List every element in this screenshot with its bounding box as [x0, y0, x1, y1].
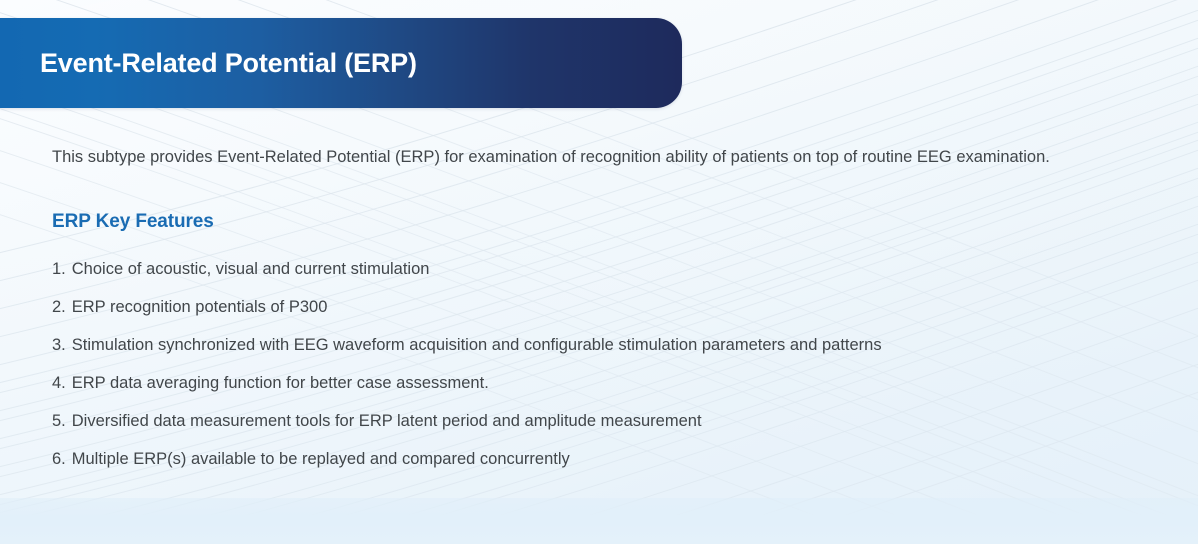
- feature-list: 1. Choice of acoustic, visual and curren…: [52, 259, 1142, 487]
- list-item-number: 5.: [52, 411, 66, 432]
- list-item: 4. ERP data averaging function for bette…: [52, 373, 1142, 411]
- list-item-label: Multiple ERP(s) available to be replayed…: [72, 449, 570, 470]
- list-item: 6. Multiple ERP(s) available to be repla…: [52, 449, 1142, 487]
- list-item-number: 6.: [52, 449, 66, 470]
- list-item-number: 4.: [52, 373, 66, 394]
- list-item-number: 3.: [52, 335, 66, 356]
- section-heading-key-features: ERP Key Features: [52, 211, 1142, 233]
- list-item-label: ERP recognition potentials of P300: [72, 297, 328, 318]
- list-item-label: ERP data averaging function for better c…: [72, 373, 489, 394]
- slide-root: Event-Related Potential (ERP) This subty…: [0, 0, 1198, 544]
- header-banner: Event-Related Potential (ERP): [0, 18, 682, 108]
- list-item: 2. ERP recognition potentials of P300: [52, 297, 1142, 335]
- list-item: 5. Diversified data measurement tools fo…: [52, 411, 1142, 449]
- list-item-label: Choice of acoustic, visual and current s…: [72, 259, 430, 280]
- list-item-label: Stimulation synchronized with EEG wavefo…: [72, 335, 882, 356]
- main-content: This subtype provides Event-Related Pote…: [52, 146, 1142, 487]
- bottom-accent-band: [0, 498, 1198, 544]
- page-title: Event-Related Potential (ERP): [40, 48, 417, 79]
- list-item-label: Diversified data measurement tools for E…: [72, 411, 702, 432]
- list-item-number: 2.: [52, 297, 66, 318]
- list-item: 3. Stimulation synchronized with EEG wav…: [52, 335, 1142, 373]
- intro-paragraph: This subtype provides Event-Related Pote…: [52, 146, 1112, 169]
- list-item: 1. Choice of acoustic, visual and curren…: [52, 259, 1142, 297]
- list-item-number: 1.: [52, 259, 66, 280]
